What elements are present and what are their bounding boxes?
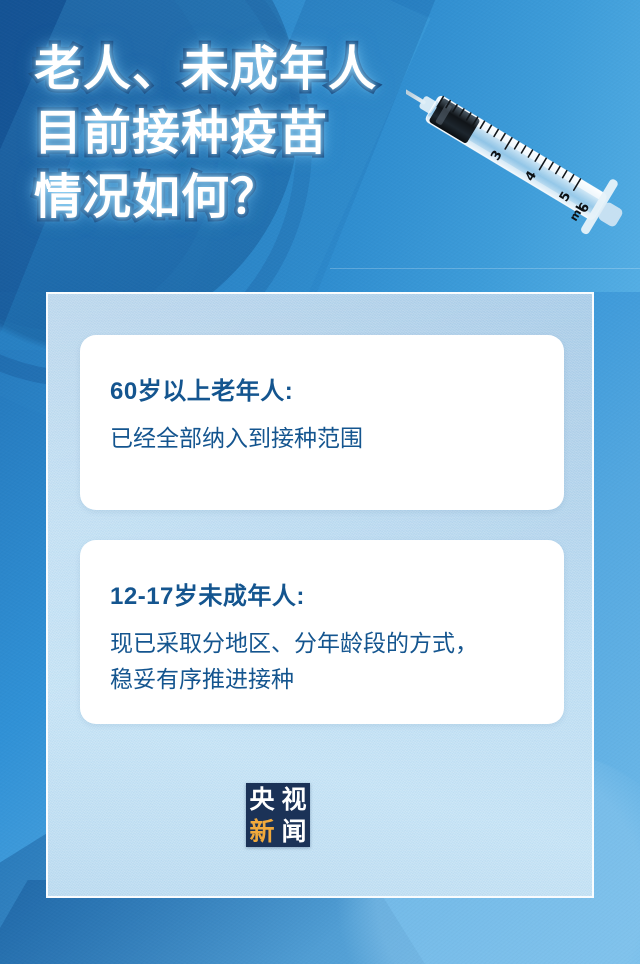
headline-line-1: 老人、未成年人 <box>34 38 504 102</box>
logo-char-2: 视 <box>281 787 306 812</box>
content-panel: 60岁以上老年人: 已经全部纳入到接种范围 12-17岁未成年人: 现已采取分地… <box>46 292 594 898</box>
card-heading: 60岁以上老年人: <box>110 371 534 406</box>
info-card-minors: 12-17岁未成年人: 现已采取分地区、分年龄段的方式， 稳妥有序推进接种 <box>80 540 564 724</box>
logo-char-3: 新 <box>249 819 274 844</box>
cctv-news-logo: 央 视 新 闻 <box>246 783 310 847</box>
headline: 老人、未成年人 目前接种疫苗 情况如何？ <box>34 38 504 230</box>
card-heading: 12-17岁未成年人: <box>110 576 534 611</box>
logo-char-4: 闻 <box>281 819 306 844</box>
infographic-poster: 3 4 5 mL 6 老人、未成年人 目前接种疫苗 情况如何？ 60岁以上老年人… <box>0 0 640 964</box>
headline-line-2: 目前接种疫苗 <box>34 102 504 166</box>
card-body: 现已采取分地区、分年龄段的方式， 稳妥有序推进接种 <box>110 625 534 697</box>
headline-line-3: 情况如何？ <box>34 166 504 230</box>
card-body: 已经全部纳入到接种范围 <box>110 420 534 456</box>
logo-char-1: 央 <box>249 787 274 812</box>
info-card-elderly: 60岁以上老年人: 已经全部纳入到接种范围 <box>80 335 564 510</box>
